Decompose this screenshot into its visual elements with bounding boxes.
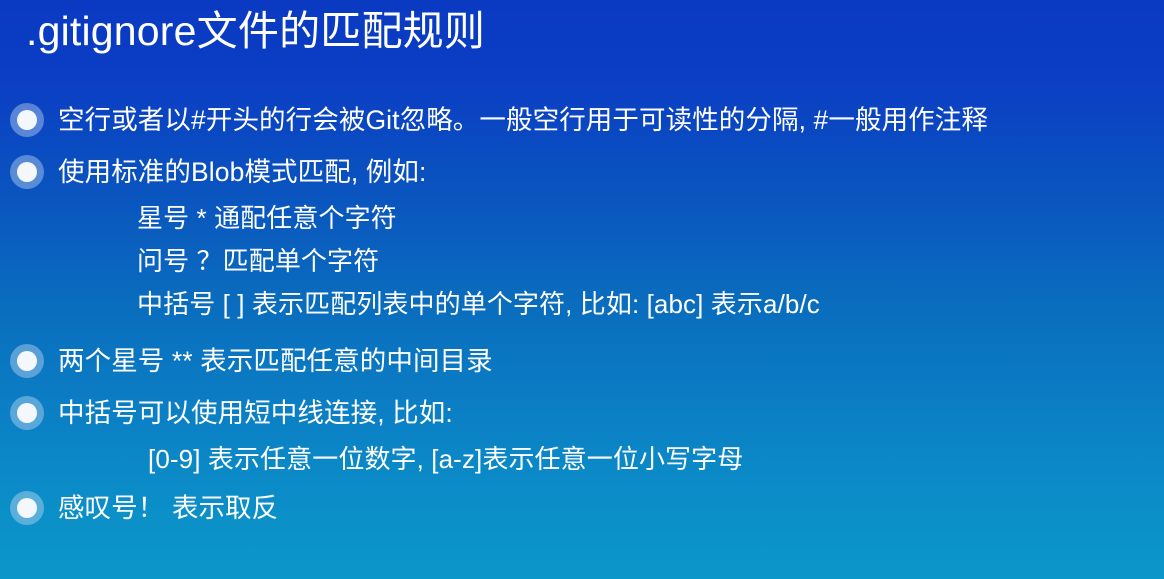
sub-list-item-label: [0-9] 表示任意一位数字, [a-z]表示任意一位小写字母 — [148, 442, 743, 476]
filled-circle-bullet-icon — [10, 155, 44, 189]
sub-list-item: 中括号 [ ] 表示匹配列表中的单个字符, 比如: [abc] 表示a/b/c — [0, 282, 1164, 325]
filled-circle-bullet-icon — [10, 103, 44, 137]
filled-circle-bullet-icon — [10, 491, 44, 525]
list-item-label: 空行或者以#开头的行会被Git忽略。一般空行用于可读性的分隔, #一般用作注释 — [58, 103, 988, 137]
filled-circle-bullet-icon — [10, 396, 44, 430]
list-item-label: 两个星号 ** 表示匹配任意的中间目录 — [58, 344, 493, 378]
sub-list-item: 问号 ？匹配单个字符 — [0, 239, 1164, 282]
sub-list-item-label: 星号 * 通配任意个字符 — [137, 201, 397, 235]
slide-root: .gitignore文件的匹配规则 空行或者以#开头的行会被Git忽略。一般空行… — [0, 0, 1164, 579]
list-item: 中括号可以使用短中线连接, 比如: — [0, 389, 1164, 437]
sub-list-item: [0-9] 表示任意一位数字, [a-z]表示任意一位小写字母 — [0, 437, 1164, 480]
list-item: 两个星号 ** 表示匹配任意的中间目录 — [0, 337, 1164, 385]
bullet-list: 空行或者以#开头的行会被Git忽略。一般空行用于可读性的分隔, #一般用作注释 … — [0, 96, 1164, 532]
sub-list-item: 星号 * 通配任意个字符 — [0, 196, 1164, 239]
page-title: .gitignore文件的匹配规则 — [26, 2, 485, 60]
list-item-label: 中括号可以使用短中线连接, 比如: — [58, 396, 453, 430]
list-item-label: 使用标准的Blob模式匹配, 例如: — [58, 155, 426, 189]
sub-list-item-label: 中括号 [ ] 表示匹配列表中的单个字符, 比如: [abc] 表示a/b/c — [137, 287, 820, 321]
list-item: 感叹号！ 表示取反 — [0, 484, 1164, 532]
filled-circle-bullet-icon — [10, 344, 44, 378]
list-item: 空行或者以#开头的行会被Git忽略。一般空行用于可读性的分隔, #一般用作注释 — [0, 96, 1164, 144]
sub-list-item-label: 问号 ？匹配单个字符 — [137, 244, 379, 278]
list-item: 使用标准的Blob模式匹配, 例如: — [0, 148, 1164, 196]
list-item-label: 感叹号！ 表示取反 — [58, 491, 278, 525]
